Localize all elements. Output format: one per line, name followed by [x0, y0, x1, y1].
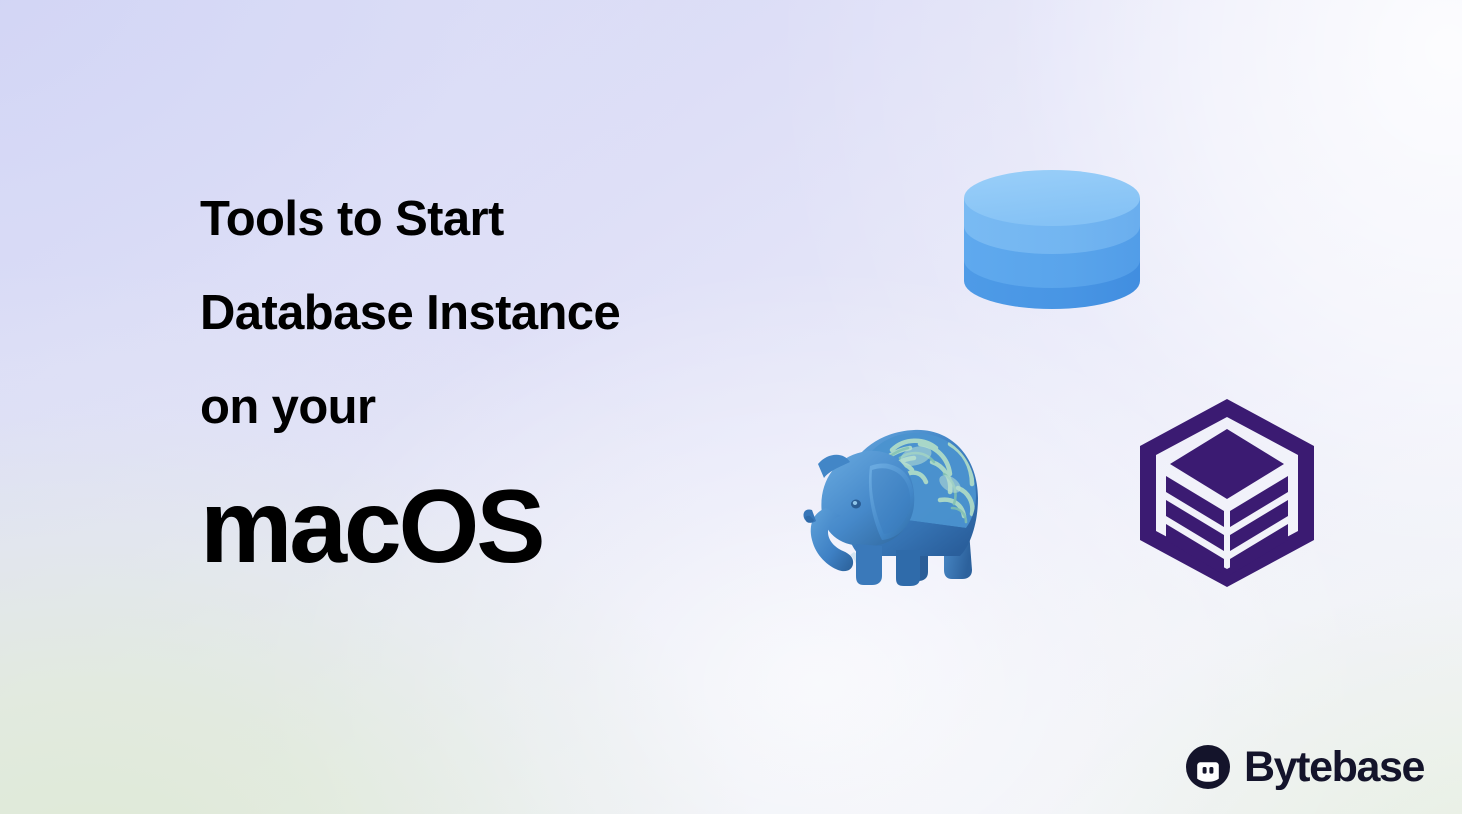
brand-name-label: Bytebase	[1244, 746, 1424, 789]
headline-line-3: on your	[200, 360, 880, 454]
hexagon-cube-icon	[1136, 398, 1318, 588]
database-cylinder-icon	[962, 168, 1142, 325]
bytebase-logo-icon	[1185, 744, 1231, 790]
banner-canvas: Tools to Start Database Instance on your…	[0, 0, 1462, 814]
headline-line-1: Tools to Start	[200, 172, 880, 266]
headline-block: Tools to Start Database Instance on your…	[200, 172, 880, 586]
headline-line-2: Database Instance	[200, 266, 880, 360]
brand-lockup: Bytebase	[1185, 744, 1424, 790]
headline-emphasis-macos: macOS	[200, 468, 880, 586]
